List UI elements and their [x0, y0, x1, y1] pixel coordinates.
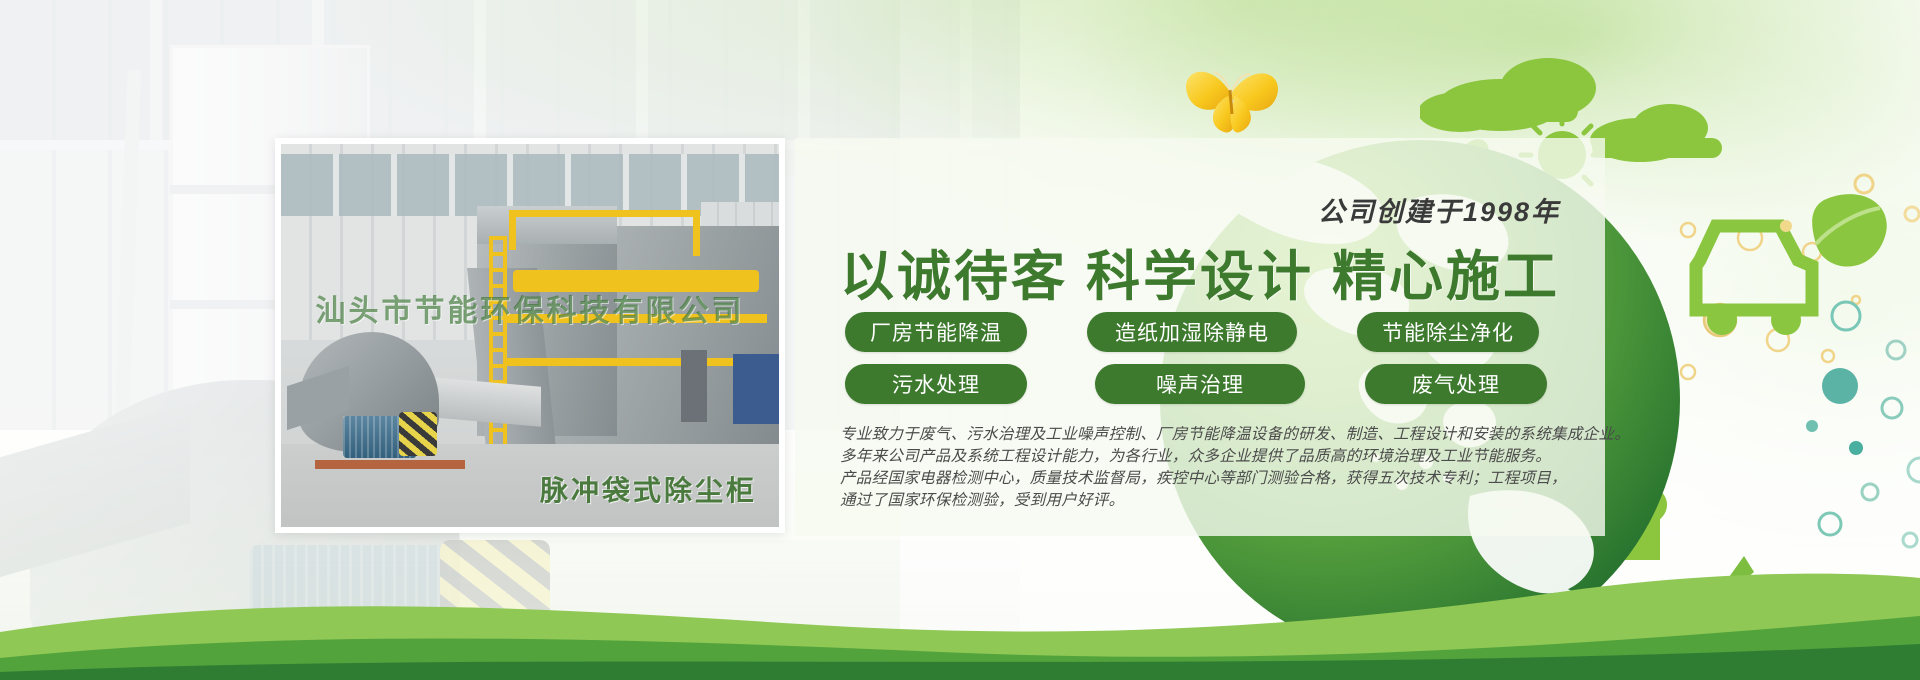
service-pill-row-2: 污水处理 噪声治理 废气处理	[845, 364, 1585, 404]
service-pill-paper-humidification[interactable]: 造纸加湿除静电	[1087, 312, 1297, 352]
eco-car-icon	[1696, 226, 1812, 310]
featured-photo-card[interactable]: 汕头市节能环保科技有限公司 脉冲袋式除尘柜	[275, 138, 785, 533]
green-hills-shape	[0, 520, 1920, 680]
service-pill-row-1: 厂房节能降温 造纸加湿除静电 节能除尘净化	[845, 312, 1585, 352]
featured-photo: 汕头市节能环保科技有限公司 脉冲袋式除尘柜	[281, 144, 779, 527]
service-pill-wastewater[interactable]: 污水处理	[845, 364, 1027, 404]
butterfly-icon	[1180, 48, 1290, 138]
promotional-banner: 汕头市节能环保科技有限公司 脉冲袋式除尘柜 公司创建于1998年 以诚待客 科学…	[0, 0, 1920, 680]
description-line-2: 多年来公司产品及系统工程设计能力，为各行业，众多企业提供了品质高的环境治理及工业…	[840, 446, 1600, 468]
service-pill-factory-cooling[interactable]: 厂房节能降温	[845, 312, 1027, 352]
service-pill-noise[interactable]: 噪声治理	[1095, 364, 1305, 404]
description-line-3: 产品经国家电器检测中心，质量技术监督局，疾控中心等部门测验合格，获得五次技术专利…	[840, 468, 1600, 490]
photo-caption: 脉冲袋式除尘柜	[540, 469, 757, 509]
service-pill-dust-purification[interactable]: 节能除尘净化	[1357, 312, 1539, 352]
service-pill-exhaust-gas[interactable]: 废气处理	[1365, 364, 1547, 404]
service-pill-group: 厂房节能降温 造纸加湿除静电 节能除尘净化 污水处理 噪声治理 废气处理	[845, 312, 1585, 416]
cloud-icon	[1420, 58, 1596, 132]
description-line-1: 专业致力于废气、污水治理及工业噪声控制、厂房节能降温设备的研发、制造、工程设计和…	[840, 424, 1600, 446]
page-title: 以诚待客 科学设计 精心施工	[795, 232, 1595, 311]
established-year-text: 公司创建于1998年	[795, 190, 1595, 229]
company-description: 专业致力于废气、污水治理及工业噪声控制、厂房节能降温设备的研发、制造、工程设计和…	[840, 424, 1600, 512]
leaf-icon	[1812, 194, 1887, 266]
photo-watermark-text: 汕头市节能环保科技有限公司	[281, 286, 779, 330]
description-line-4: 通过了国家环保检测验，受到用户好评。	[840, 490, 1600, 512]
